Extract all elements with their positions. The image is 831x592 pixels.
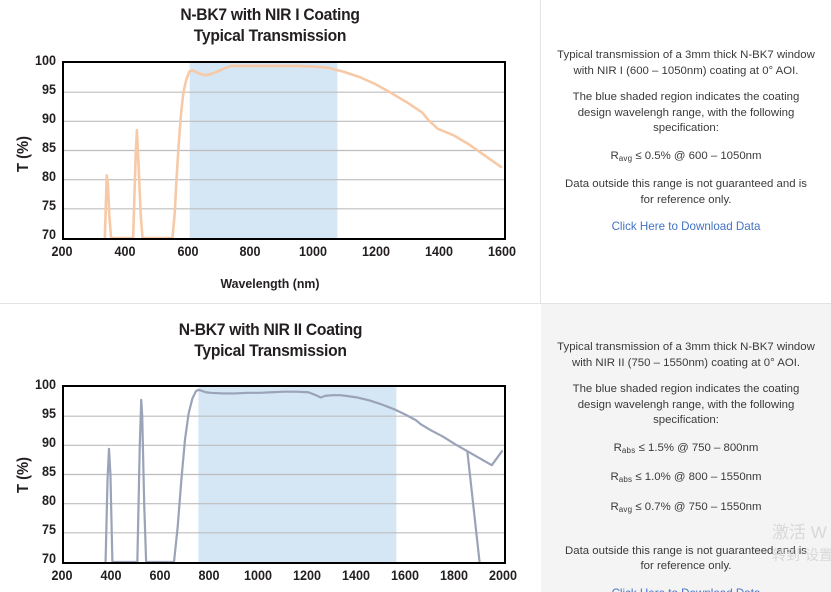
chart2-ytick-85: 85	[22, 463, 56, 479]
chart2-xtick-1800: 1800	[429, 567, 479, 583]
chart2-ytick-100: 100	[22, 376, 56, 392]
chart2-title-line2: Typical Transmission	[22, 340, 520, 361]
chart-nir1: N-BK7 with NIR I Coating Typical Transmi…	[0, 0, 540, 303]
chart2-xtick-800: 800	[184, 567, 234, 583]
info1-paragraph-3: Data outside this range is not guarantee…	[557, 177, 815, 208]
info2-paragraph-1: Typical transmission of a 3mm thick N-BK…	[557, 340, 815, 371]
chart1-ytick-75: 75	[22, 197, 56, 213]
chart-panel-nir1: N-BK7 with NIR I Coating Typical Transmi…	[0, 0, 541, 304]
info2-spec-3-symbol: R	[610, 501, 618, 513]
chart1-svg	[64, 63, 504, 238]
info-panel-nir1: Typical transmission of a 3mm thick N-BK…	[541, 0, 831, 304]
chart2-title: N-BK7 with NIR II Coating Typical Transm…	[22, 319, 520, 361]
info2-download-link-wrap: Click Here to Download Data	[557, 586, 815, 592]
chart1-ytick-85: 85	[22, 139, 56, 155]
chart1-xtick-200: 200	[37, 243, 87, 259]
chart2-transmission-curve-tail	[467, 451, 502, 465]
chart2-svg	[64, 387, 504, 562]
chart1-plot-area	[62, 61, 506, 240]
info1-spec-1-symbol: R	[610, 150, 618, 162]
chart1-xtick-1600: 1600	[477, 243, 527, 259]
info1-download-link[interactable]: Click Here to Download Data	[612, 219, 761, 235]
chart1-title: N-BK7 with NIR I Coating Typical Transmi…	[22, 4, 519, 46]
info1-paragraph-2: The blue shaded region indicates the coa…	[557, 90, 815, 137]
chart1-ytick-80: 80	[22, 168, 56, 184]
info1-spec-1-subscript: avg	[619, 153, 633, 162]
info1-paragraph-1: Typical transmission of a 3mm thick N-BK…	[557, 48, 815, 79]
chart1-xtick-1400: 1400	[414, 243, 464, 259]
chart2-title-line1: N-BK7 with NIR II Coating	[179, 320, 362, 339]
info2-body: Typical transmission of a 3mm thick N-BK…	[557, 340, 815, 592]
chart1-ytick-90: 90	[22, 110, 56, 126]
info2-spec-1-value: ≤ 1.5% @ 750 – 800nm	[639, 442, 759, 454]
info2-spec-2-value: ≤ 1.0% @ 800 – 1550nm	[635, 471, 761, 483]
info2-download-link[interactable]: Click Here to Download Data	[612, 586, 761, 592]
chart2-ytick-80: 80	[22, 492, 56, 508]
chart2-xtick-1600: 1600	[380, 567, 430, 583]
chart2-xtick-600: 600	[135, 567, 185, 583]
info1-spec-1: Ravg ≤ 0.5% @ 600 – 1050nm	[557, 148, 815, 167]
info2-spec-2: Rabs ≤ 1.0% @ 800 – 1550nm	[557, 469, 815, 488]
info2-spec-3: Ravg ≤ 0.7% @ 750 – 1550nm	[557, 499, 815, 518]
chart-nir2: N-BK7 with NIR II Coating Typical Transm…	[0, 304, 541, 592]
chart1-xtick-1000: 1000	[288, 243, 338, 259]
chart1-xtick-600: 600	[163, 243, 213, 259]
chart1-title-line2: Typical Transmission	[22, 25, 519, 46]
info2-spec-3-value: ≤ 0.7% @ 750 – 1550nm	[635, 501, 761, 513]
info2-spec-3-subscript: avg	[619, 505, 633, 514]
chart1-xtick-1200: 1200	[351, 243, 401, 259]
chart1-xtick-400: 400	[100, 243, 150, 259]
chart1-ytick-70: 70	[22, 226, 56, 242]
chart2-ytick-75: 75	[22, 521, 56, 537]
info1-download-link-wrap: Click Here to Download Data	[557, 219, 815, 236]
figure-grid: N-BK7 with NIR I Coating Typical Transmi…	[0, 0, 831, 592]
info2-spec-2-subscript: abs	[619, 475, 633, 484]
info2-paragraph-2: The blue shaded region indicates the coa…	[557, 382, 815, 429]
info2-spec-1-symbol: R	[614, 442, 622, 454]
info2-spec-1: Rabs ≤ 1.5% @ 750 – 800nm	[557, 440, 815, 459]
chart2-xtick-1400: 1400	[331, 567, 381, 583]
chart2-xtick-1200: 1200	[282, 567, 332, 583]
chart2-xtick-400: 400	[86, 567, 136, 583]
chart2-xtick-200: 200	[37, 567, 87, 583]
info1-spec-1-value: ≤ 0.5% @ 600 – 1050nm	[635, 150, 761, 162]
info-panel-nir2: Typical transmission of a 3mm thick N-BK…	[541, 304, 831, 592]
info2-paragraph-3: Data outside this range is not guarantee…	[557, 544, 815, 575]
chart2-ytick-90: 90	[22, 434, 56, 450]
chart1-ytick-95: 95	[22, 81, 56, 97]
chart-panel-nir2: N-BK7 with NIR II Coating Typical Transm…	[0, 304, 541, 592]
chart1-title-line1: N-BK7 with NIR I Coating	[180, 5, 359, 24]
chart1-xtick-800: 800	[225, 243, 275, 259]
chart2-xtick-1000: 1000	[233, 567, 283, 583]
info2-spec-2-symbol: R	[610, 471, 618, 483]
chart1-ytick-100: 100	[22, 52, 56, 68]
info2-spec-1-subscript: abs	[622, 445, 636, 454]
chart2-plot-area	[62, 385, 506, 564]
info1-body: Typical transmission of a 3mm thick N-BK…	[557, 48, 815, 236]
chart2-xtick-2000: 2000	[478, 567, 528, 583]
chart1-x-axis-label: Wavelength (nm)	[14, 276, 527, 291]
chart2-ytick-70: 70	[22, 550, 56, 566]
chart2-ytick-95: 95	[22, 405, 56, 421]
